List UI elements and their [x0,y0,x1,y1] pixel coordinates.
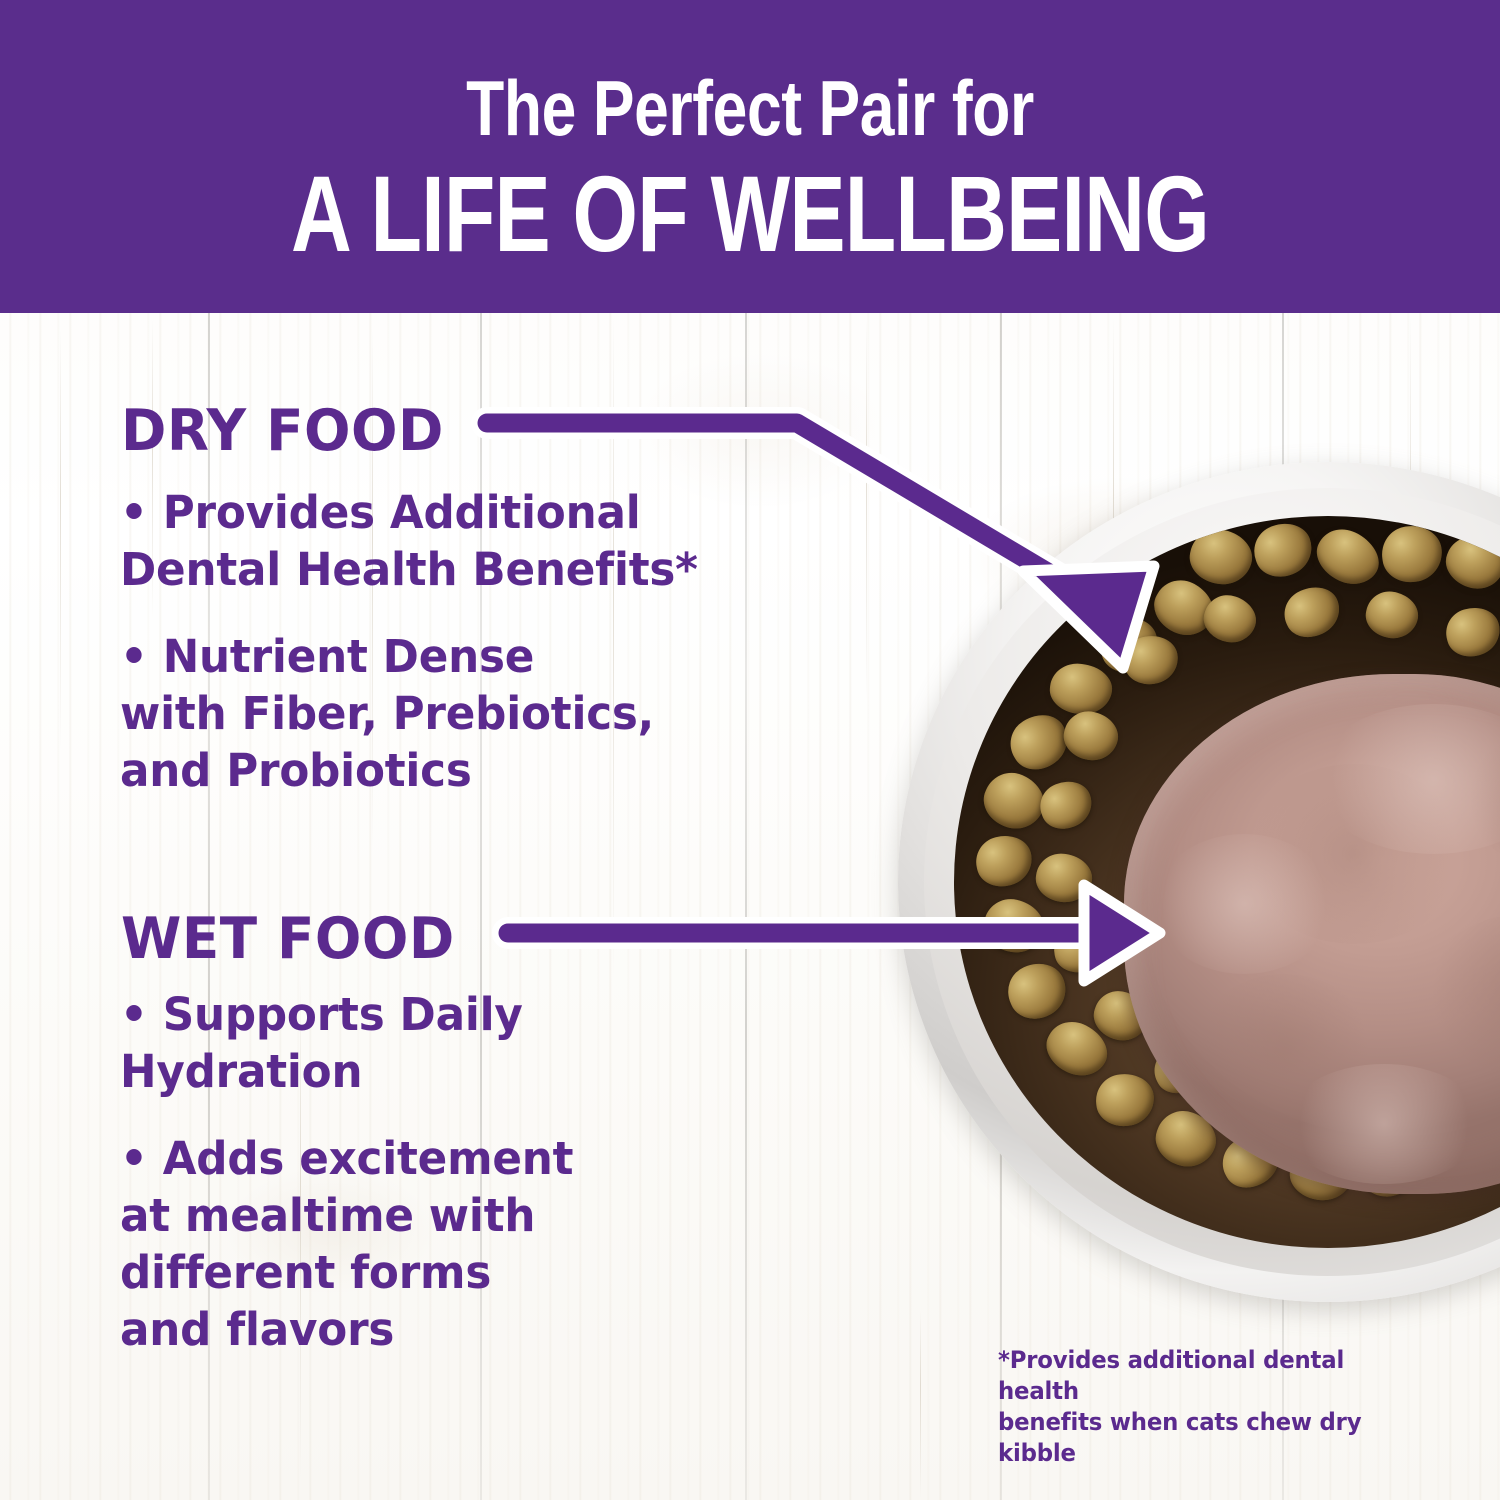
kibble-piece [1277,579,1348,646]
wood-grain-line [60,330,61,750]
kibble-piece [1378,522,1445,586]
bullet-dry-food-1: • Provides Additional Dental Health Bene… [120,484,799,598]
kibble-piece [1048,661,1115,717]
wood-grain-line [920,1310,921,1500]
bullet-wet-food-2: • Adds excitement at mealtime with diffe… [120,1130,799,1358]
pate-highlight [1154,834,1334,974]
food-bowl-photo [898,462,1500,1302]
kibble-piece [1362,587,1422,643]
product-infographic: The Perfect Pair for A LIFE OF WELLBEING [0,0,1500,1500]
pate-highlight [1284,1064,1484,1184]
kibble-piece [1440,601,1500,662]
header-band: The Perfect Pair for A LIFE OF WELLBEING [0,0,1500,313]
kibble-piece [971,830,1037,892]
page-title-line-2: A LIFE OF WELLBEING [165,158,1335,270]
bullet-dry-food-2: • Nutrient Dense with Fiber, Prebiotics,… [120,628,799,799]
footnote-disclaimer: *Provides additional dental health benef… [998,1345,1416,1469]
kibble-piece [1033,850,1095,905]
pate-texture [1424,914,1500,1074]
kibble-piece [1093,1071,1156,1129]
section-heading-dry-food: DRY FOOD [121,398,444,464]
page-title-line-1: The Perfect Pair for [150,66,1350,150]
kibble-piece [1033,774,1098,836]
kibble-piece [1247,516,1319,584]
kibble-piece [978,893,1050,960]
bullet-wet-food-1: • Supports Daily Hydration [120,986,799,1100]
wood-grain-line [866,320,867,700]
section-heading-wet-food: WET FOOD [121,906,455,972]
kibble-piece [1308,519,1388,594]
kibble-piece [1059,706,1123,766]
kibble-piece [1050,921,1110,977]
